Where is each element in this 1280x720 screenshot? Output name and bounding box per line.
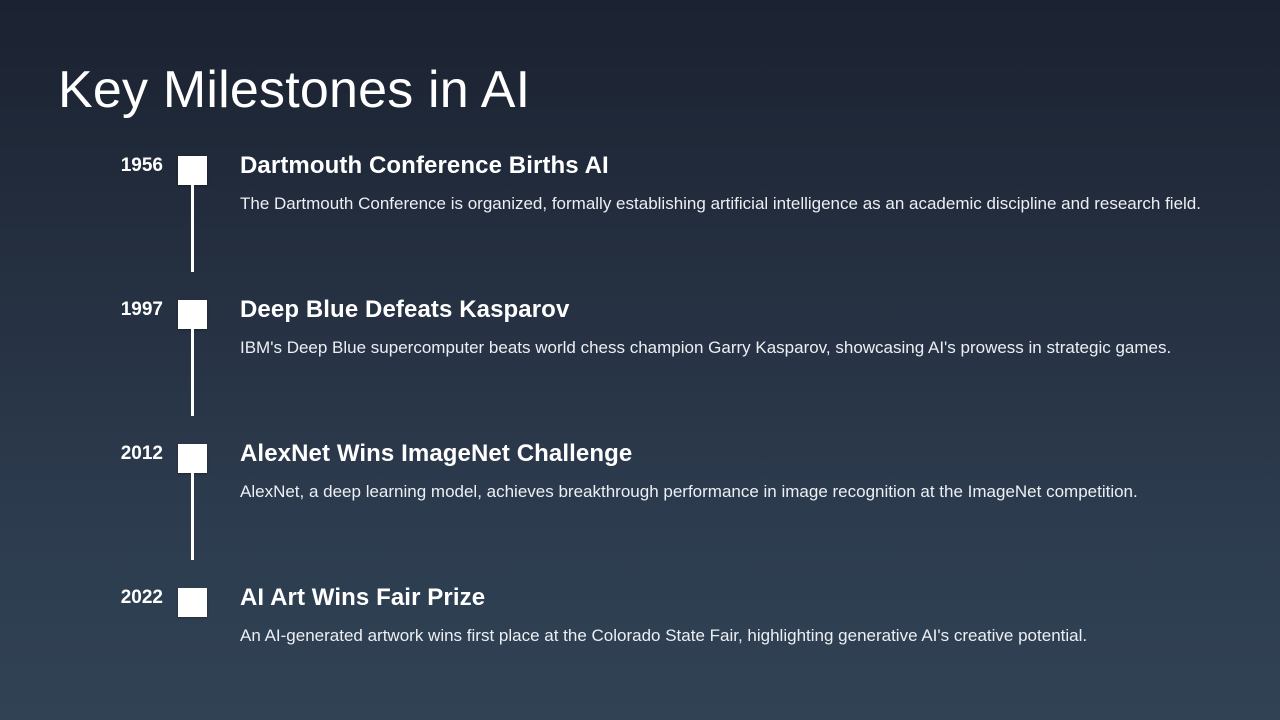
timeline-list: 1956 Dartmouth Conference Births AI The …: [0, 150, 1280, 702]
timeline-item-heading: Deep Blue Defeats Kasparov: [240, 294, 1222, 325]
timeline-marker: [178, 156, 207, 185]
timeline-item-body: AlexNet Wins ImageNet Challenge AlexNet,…: [240, 438, 1222, 505]
timeline-year-label: 1997: [0, 299, 163, 321]
timeline-item-description: An AI-generated artwork wins first place…: [240, 623, 1215, 649]
timeline-year-label: 2022: [0, 587, 163, 609]
timeline-item-body: Deep Blue Defeats Kasparov IBM's Deep Bl…: [240, 294, 1222, 361]
timeline-marker: [178, 588, 207, 617]
timeline-item-body: AI Art Wins Fair Prize An AI-generated a…: [240, 582, 1222, 649]
timeline-square-icon: [178, 156, 207, 185]
timeline-item-description: AlexNet, a deep learning model, achieves…: [240, 479, 1215, 505]
timeline-marker: [178, 300, 207, 329]
timeline-year-label: 2012: [0, 443, 163, 465]
timeline-square-icon: [178, 300, 207, 329]
timeline-item-body: Dartmouth Conference Births AI The Dartm…: [240, 150, 1222, 217]
timeline-item[interactable]: 1956 Dartmouth Conference Births AI The …: [0, 150, 1280, 294]
timeline-item[interactable]: 2012 AlexNet Wins ImageNet Challenge Ale…: [0, 438, 1280, 582]
page-title: Key Milestones in AI: [58, 59, 530, 121]
timeline-item-description: IBM's Deep Blue supercomputer beats worl…: [240, 335, 1215, 361]
timeline-item-description: The Dartmouth Conference is organized, f…: [240, 191, 1215, 217]
timeline-square-icon: [178, 444, 207, 473]
timeline-item-heading: AI Art Wins Fair Prize: [240, 582, 1222, 613]
timeline-year-label: 1956: [0, 155, 163, 177]
timeline-item[interactable]: 2022 AI Art Wins Fair Prize An AI-genera…: [0, 582, 1280, 702]
timeline-square-icon: [178, 588, 207, 617]
timeline-connector-line: [191, 185, 194, 272]
timeline-marker: [178, 444, 207, 473]
timeline-item-heading: AlexNet Wins ImageNet Challenge: [240, 438, 1222, 469]
timeline-connector-line: [191, 473, 194, 560]
slide-canvas: Key Milestones in AI 1956 Dartmouth Conf…: [0, 0, 1280, 720]
timeline-item-heading: Dartmouth Conference Births AI: [240, 150, 1222, 181]
timeline-item[interactable]: 1997 Deep Blue Defeats Kasparov IBM's De…: [0, 294, 1280, 438]
timeline-connector-line: [191, 329, 194, 416]
